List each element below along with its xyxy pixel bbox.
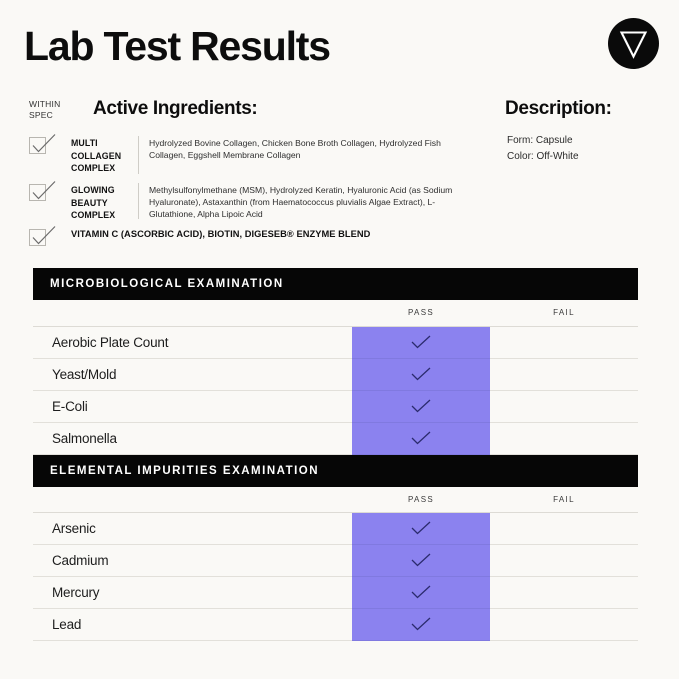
fail-cell[interactable] [490, 609, 638, 641]
ingredient-description: Hydrolyzed Bovine Collagen, Chicken Bone… [149, 133, 459, 161]
table-row: Arsenic [33, 513, 638, 545]
column-header-pass: PASS [352, 487, 490, 513]
check-icon [31, 225, 57, 249]
table-row: Salmonella [33, 422, 638, 454]
check-icon [31, 133, 57, 157]
triangle-logo-icon [608, 18, 659, 69]
microbiological-table: PASS FAIL Aerobic Plate Count Yeast/Mold [33, 300, 638, 455]
test-name: E-Coli [33, 390, 352, 422]
fail-cell[interactable] [490, 390, 638, 422]
check-icon [410, 399, 432, 413]
test-name: Cadmium [33, 545, 352, 577]
within-spec-line-1: WITHIN [29, 99, 77, 110]
description-form: Form: Capsule [507, 133, 579, 149]
column-header-name [33, 300, 352, 326]
lab-test-results-page: Lab Test Results WITHIN SPEC Active Ingr… [0, 0, 679, 679]
within-spec-checkbox[interactable] [29, 184, 46, 201]
pass-cell[interactable] [352, 513, 490, 545]
fail-cell[interactable] [490, 513, 638, 545]
within-spec-label: WITHIN SPEC [29, 99, 77, 121]
test-name: Arsenic [33, 513, 352, 545]
ingredient-name: VITAMIN C (ASCORBIC ACID), BIOTIN, DIGES… [71, 225, 459, 239]
test-name: Mercury [33, 577, 352, 609]
pass-cell[interactable] [352, 326, 490, 358]
table-banner-microbiological: MICROBIOLOGICAL EXAMINATION [33, 268, 638, 300]
table-row: Lead [33, 609, 638, 641]
ingredient-row: VITAMIN C (ASCORBIC ACID), BIOTIN, DIGES… [29, 225, 459, 249]
check-icon [410, 585, 432, 599]
column-header-fail: FAIL [490, 300, 638, 326]
ingredients-list: MULTI COLLAGEN COMPLEX Hydrolyzed Bovine… [29, 133, 459, 249]
pass-cell[interactable] [352, 358, 490, 390]
test-name: Yeast/Mold [33, 358, 352, 390]
pass-cell[interactable] [352, 609, 490, 641]
within-spec-checkbox[interactable] [29, 137, 46, 154]
table-row: Mercury [33, 577, 638, 609]
ingredient-description: Methylsulfonylmethane (MSM), Hydrolyzed … [149, 180, 459, 221]
examination-tables: MICROBIOLOGICAL EXAMINATION PASS FAIL Ae… [33, 268, 638, 641]
pass-cell[interactable] [352, 422, 490, 454]
ingredient-row: GLOWING BEAUTY COMPLEX Methylsulfonylmet… [29, 180, 459, 225]
table-row: Aerobic Plate Count [33, 326, 638, 358]
check-icon [410, 553, 432, 567]
pass-cell[interactable] [352, 577, 490, 609]
fail-cell[interactable] [490, 358, 638, 390]
table-row: Cadmium [33, 545, 638, 577]
fail-cell[interactable] [490, 545, 638, 577]
check-icon [410, 521, 432, 535]
description-details: Form: Capsule Color: Off-White [507, 133, 579, 165]
ingredient-name: MULTI COLLAGEN COMPLEX [71, 133, 133, 175]
pass-cell[interactable] [352, 390, 490, 422]
within-spec-checkbox[interactable] [29, 229, 46, 246]
check-icon [410, 617, 432, 631]
within-spec-line-2: SPEC [29, 110, 77, 121]
active-ingredients-heading: Active Ingredients: [93, 98, 257, 120]
fail-cell[interactable] [490, 577, 638, 609]
table-header-row: PASS FAIL [33, 300, 638, 326]
check-icon [410, 335, 432, 349]
check-icon [31, 180, 57, 204]
test-name: Aerobic Plate Count [33, 326, 352, 358]
ingredient-name: GLOWING BEAUTY COMPLEX [71, 180, 133, 222]
column-header-pass: PASS [352, 300, 490, 326]
column-header-fail: FAIL [490, 487, 638, 513]
description-color: Color: Off-White [507, 149, 579, 165]
check-icon [410, 367, 432, 381]
table-header-row: PASS FAIL [33, 487, 638, 513]
pass-cell[interactable] [352, 545, 490, 577]
column-header-name [33, 487, 352, 513]
fail-cell[interactable] [490, 326, 638, 358]
test-name: Lead [33, 609, 352, 641]
table-row: Yeast/Mold [33, 358, 638, 390]
document-header: Lab Test Results [24, 26, 659, 92]
ingredient-row: MULTI COLLAGEN COMPLEX Hydrolyzed Bovine… [29, 133, 459, 180]
page-title: Lab Test Results [24, 26, 659, 67]
description-heading: Description: [505, 98, 612, 120]
fail-cell[interactable] [490, 422, 638, 454]
ingredient-divider [138, 183, 139, 219]
ingredient-divider [138, 136, 139, 174]
elemental-impurities-table: PASS FAIL Arsenic Cadmium [33, 487, 638, 642]
test-name: Salmonella [33, 422, 352, 454]
table-banner-elemental: ELEMENTAL IMPURITIES EXAMINATION [33, 455, 638, 487]
check-icon [410, 431, 432, 445]
table-row: E-Coli [33, 390, 638, 422]
